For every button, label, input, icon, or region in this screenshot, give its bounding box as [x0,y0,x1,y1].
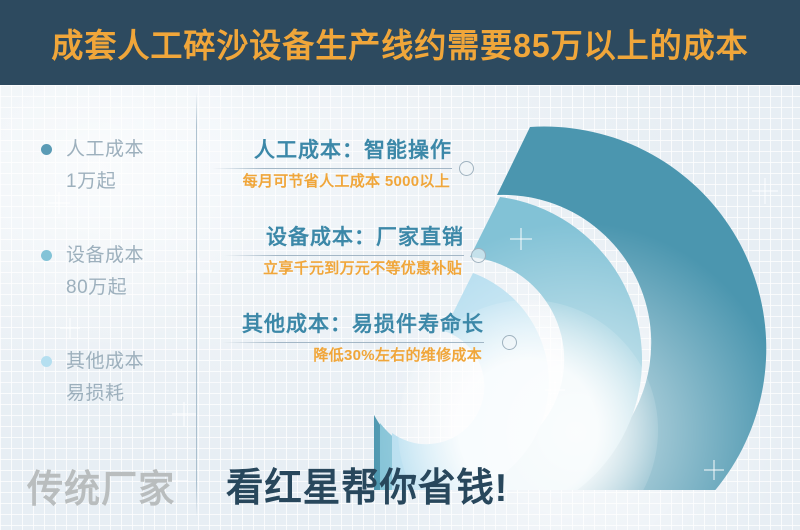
list-item-label: 人工成本 1万起 [66,134,188,198]
benefit-entry-labor: 人工成本：智能操作 每月可节省人工成本 5000以上 [212,138,452,193]
traditional-cost-list: 人工成本 1万起 设备成本 80万起 其他成本 易损耗 [38,134,188,452]
circle-marker-icon [471,248,486,263]
infographic-poster: 成套人工碎沙设备生产线约需要85万以上的成本 [0,0,800,530]
circle-marker-icon [459,161,474,176]
benefit-title: 其他成本：易损件寿命长 [222,312,484,338]
bullet-dot-icon [41,144,52,155]
page-title: 成套人工碎沙设备生产线约需要85万以上的成本 [12,0,788,85]
benefit-entry-equipment: 设备成本：厂家直销 立享千元到万元不等优惠补贴 [224,225,464,280]
footer-traditional-label: 传统厂家 [27,458,175,513]
benefit-subtitle: 每月可节省人工成本 5000以上 [212,171,452,193]
benefit-title: 人工成本：智能操作 [212,138,452,164]
list-item-label: 其他成本 易损耗 [66,346,188,410]
list-item: 其他成本 易损耗 [38,346,188,410]
benefit-subtitle: 立享千元到万元不等优惠补贴 [224,258,464,280]
benefit-title: 设备成本：厂家直销 [224,225,464,251]
benefit-rule [222,342,484,343]
benefit-rule [224,255,464,256]
benefit-entry-other: 其他成本：易损件寿命长 降低30%左右的维修成本 [222,312,484,367]
list-item: 人工成本 1万起 [38,134,188,198]
benefit-rule [212,168,452,169]
bullet-dot-icon [41,250,52,261]
footer-slogan: 看红星帮你省钱! [226,457,508,513]
list-item: 设备成本 80万起 [38,240,188,304]
bullet-dot-icon [41,356,52,367]
vertical-divider [196,92,197,517]
benefit-subtitle: 降低30%左右的维修成本 [222,345,484,367]
circle-marker-icon [502,335,517,350]
list-item-label: 设备成本 80万起 [66,240,188,304]
